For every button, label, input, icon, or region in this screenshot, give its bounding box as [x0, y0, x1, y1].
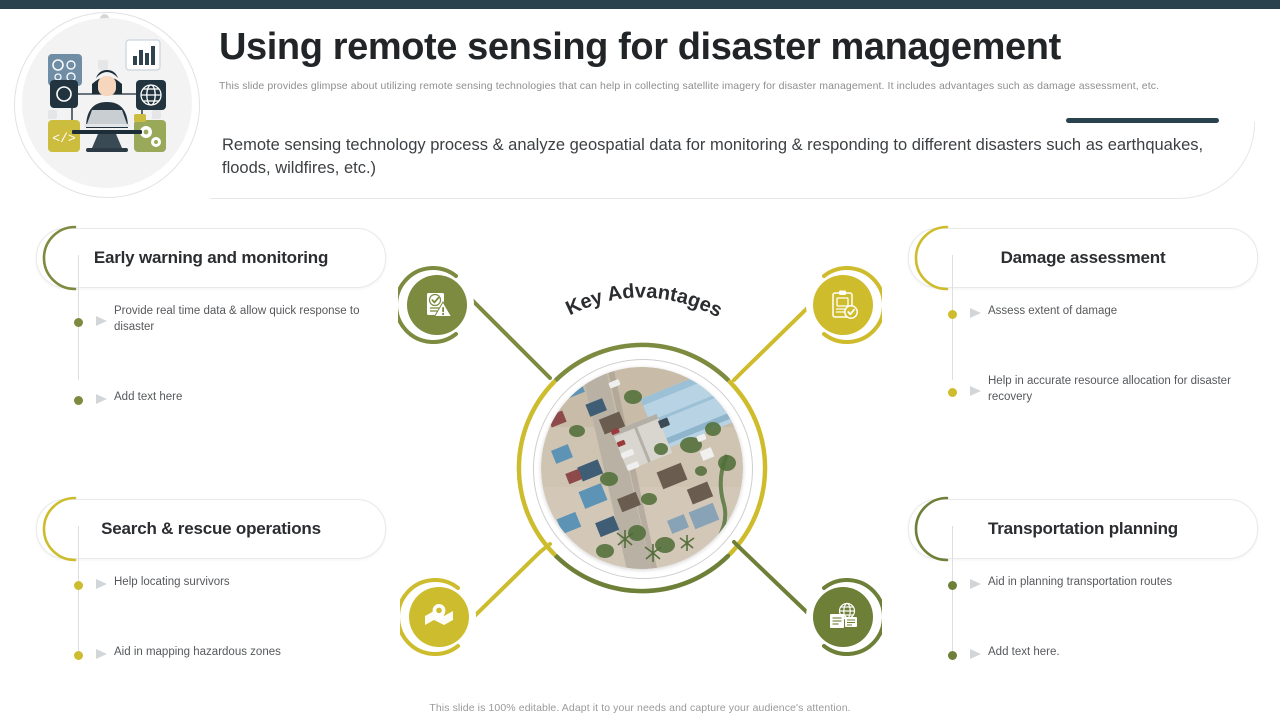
person-at-computer-illustration: </> [34, 32, 180, 174]
aerial-satellite-flood-photo [541, 367, 743, 569]
card-transportation-planning[interactable]: Transportation planning [908, 499, 1258, 559]
footer-note: This slide is 100% editable. Adapt it to… [0, 702, 1280, 714]
bullet-dot-icon [948, 388, 957, 397]
globe-network-document-icon [813, 587, 873, 647]
slide: </> Using remote sensing for disaster ma… [0, 0, 1280, 720]
page-title: Using remote sensing for disaster manage… [219, 24, 1199, 70]
bullet-text: Aid in mapping hazardous zones [114, 626, 281, 660]
list-item[interactable]: Aid in planning transportation routes [952, 556, 1280, 590]
card-search-and-rescue-operations[interactable]: Search & rescue operations [36, 499, 386, 559]
card-title: Search & rescue operations [37, 500, 385, 558]
list-item[interactable]: Provide real time data & allow quick res… [78, 285, 408, 335]
chevron-right-icon [95, 315, 109, 327]
chevron-right-icon [969, 307, 983, 319]
top-accent-bar [0, 0, 1280, 9]
node-transportation-icon-badge[interactable] [804, 578, 882, 656]
chevron-right-icon [969, 385, 983, 397]
bullet-dot-icon [74, 581, 83, 590]
bullet-text: Help in accurate resource allocation for… [988, 355, 1238, 405]
bullet-dot-icon [948, 310, 957, 319]
node-damage-assessment-icon-badge[interactable] [804, 266, 882, 344]
bullet-text: Add text here. [988, 626, 1060, 660]
bullet-dot-icon [948, 651, 957, 660]
key-advantages-diagram: Key Advantages [390, 252, 890, 667]
card-title: Early warning and monitoring [37, 229, 385, 287]
bullets-damage-assessment: Assess extent of damage Help in accurate… [952, 285, 1280, 441]
node-search-rescue-icon-badge[interactable] [400, 578, 478, 656]
map-location-pin-icon [409, 587, 469, 647]
chevron-right-icon [95, 393, 109, 405]
page-subtitle: This slide provides glimpse about utiliz… [219, 79, 1199, 93]
bullet-text: Assess extent of damage [988, 285, 1117, 319]
list-item[interactable]: Assess extent of damage [952, 285, 1280, 319]
bullet-dot-icon [74, 651, 83, 660]
list-item[interactable]: Aid in mapping hazardous zones [78, 626, 408, 660]
bullet-dot-icon [74, 396, 83, 405]
chevron-right-icon [95, 578, 109, 590]
bullets-early-warning-and-monitoring: Provide real time data & allow quick res… [78, 285, 408, 441]
bullet-dot-icon [74, 318, 83, 327]
lead-paragraph: Remote sensing technology process & anal… [222, 134, 1227, 180]
bullet-text: Aid in planning transportation routes [988, 556, 1172, 590]
bullets-search-and-rescue-operations: Help locating survivors Aid in mapping h… [78, 556, 408, 696]
chevron-right-icon [969, 648, 983, 660]
document-check-warning-icon [407, 275, 467, 335]
card-early-warning-and-monitoring[interactable]: Early warning and monitoring [36, 228, 386, 288]
bullets-transportation-planning: Aid in planning transportation routes Ad… [952, 556, 1280, 696]
card-title: Damage assessment [909, 229, 1257, 287]
bullet-text: Provide real time data & allow quick res… [114, 285, 364, 335]
list-item[interactable]: Help in accurate resource allocation for… [952, 355, 1280, 405]
list-item[interactable]: Help locating survivors [78, 556, 408, 590]
bullet-dot-icon [948, 581, 957, 590]
clipboard-check-icon [813, 275, 873, 335]
list-item[interactable]: Add text here [78, 371, 408, 405]
bullet-text: Help locating survivors [114, 556, 230, 590]
node-early-warning-icon-badge[interactable] [398, 266, 476, 344]
card-damage-assessment[interactable]: Damage assessment [908, 228, 1258, 288]
card-title: Transportation planning [909, 500, 1257, 558]
list-item[interactable]: Add text here. [952, 626, 1280, 660]
chevron-right-icon [969, 578, 983, 590]
chevron-right-icon [95, 648, 109, 660]
bullet-text: Add text here [114, 371, 182, 405]
